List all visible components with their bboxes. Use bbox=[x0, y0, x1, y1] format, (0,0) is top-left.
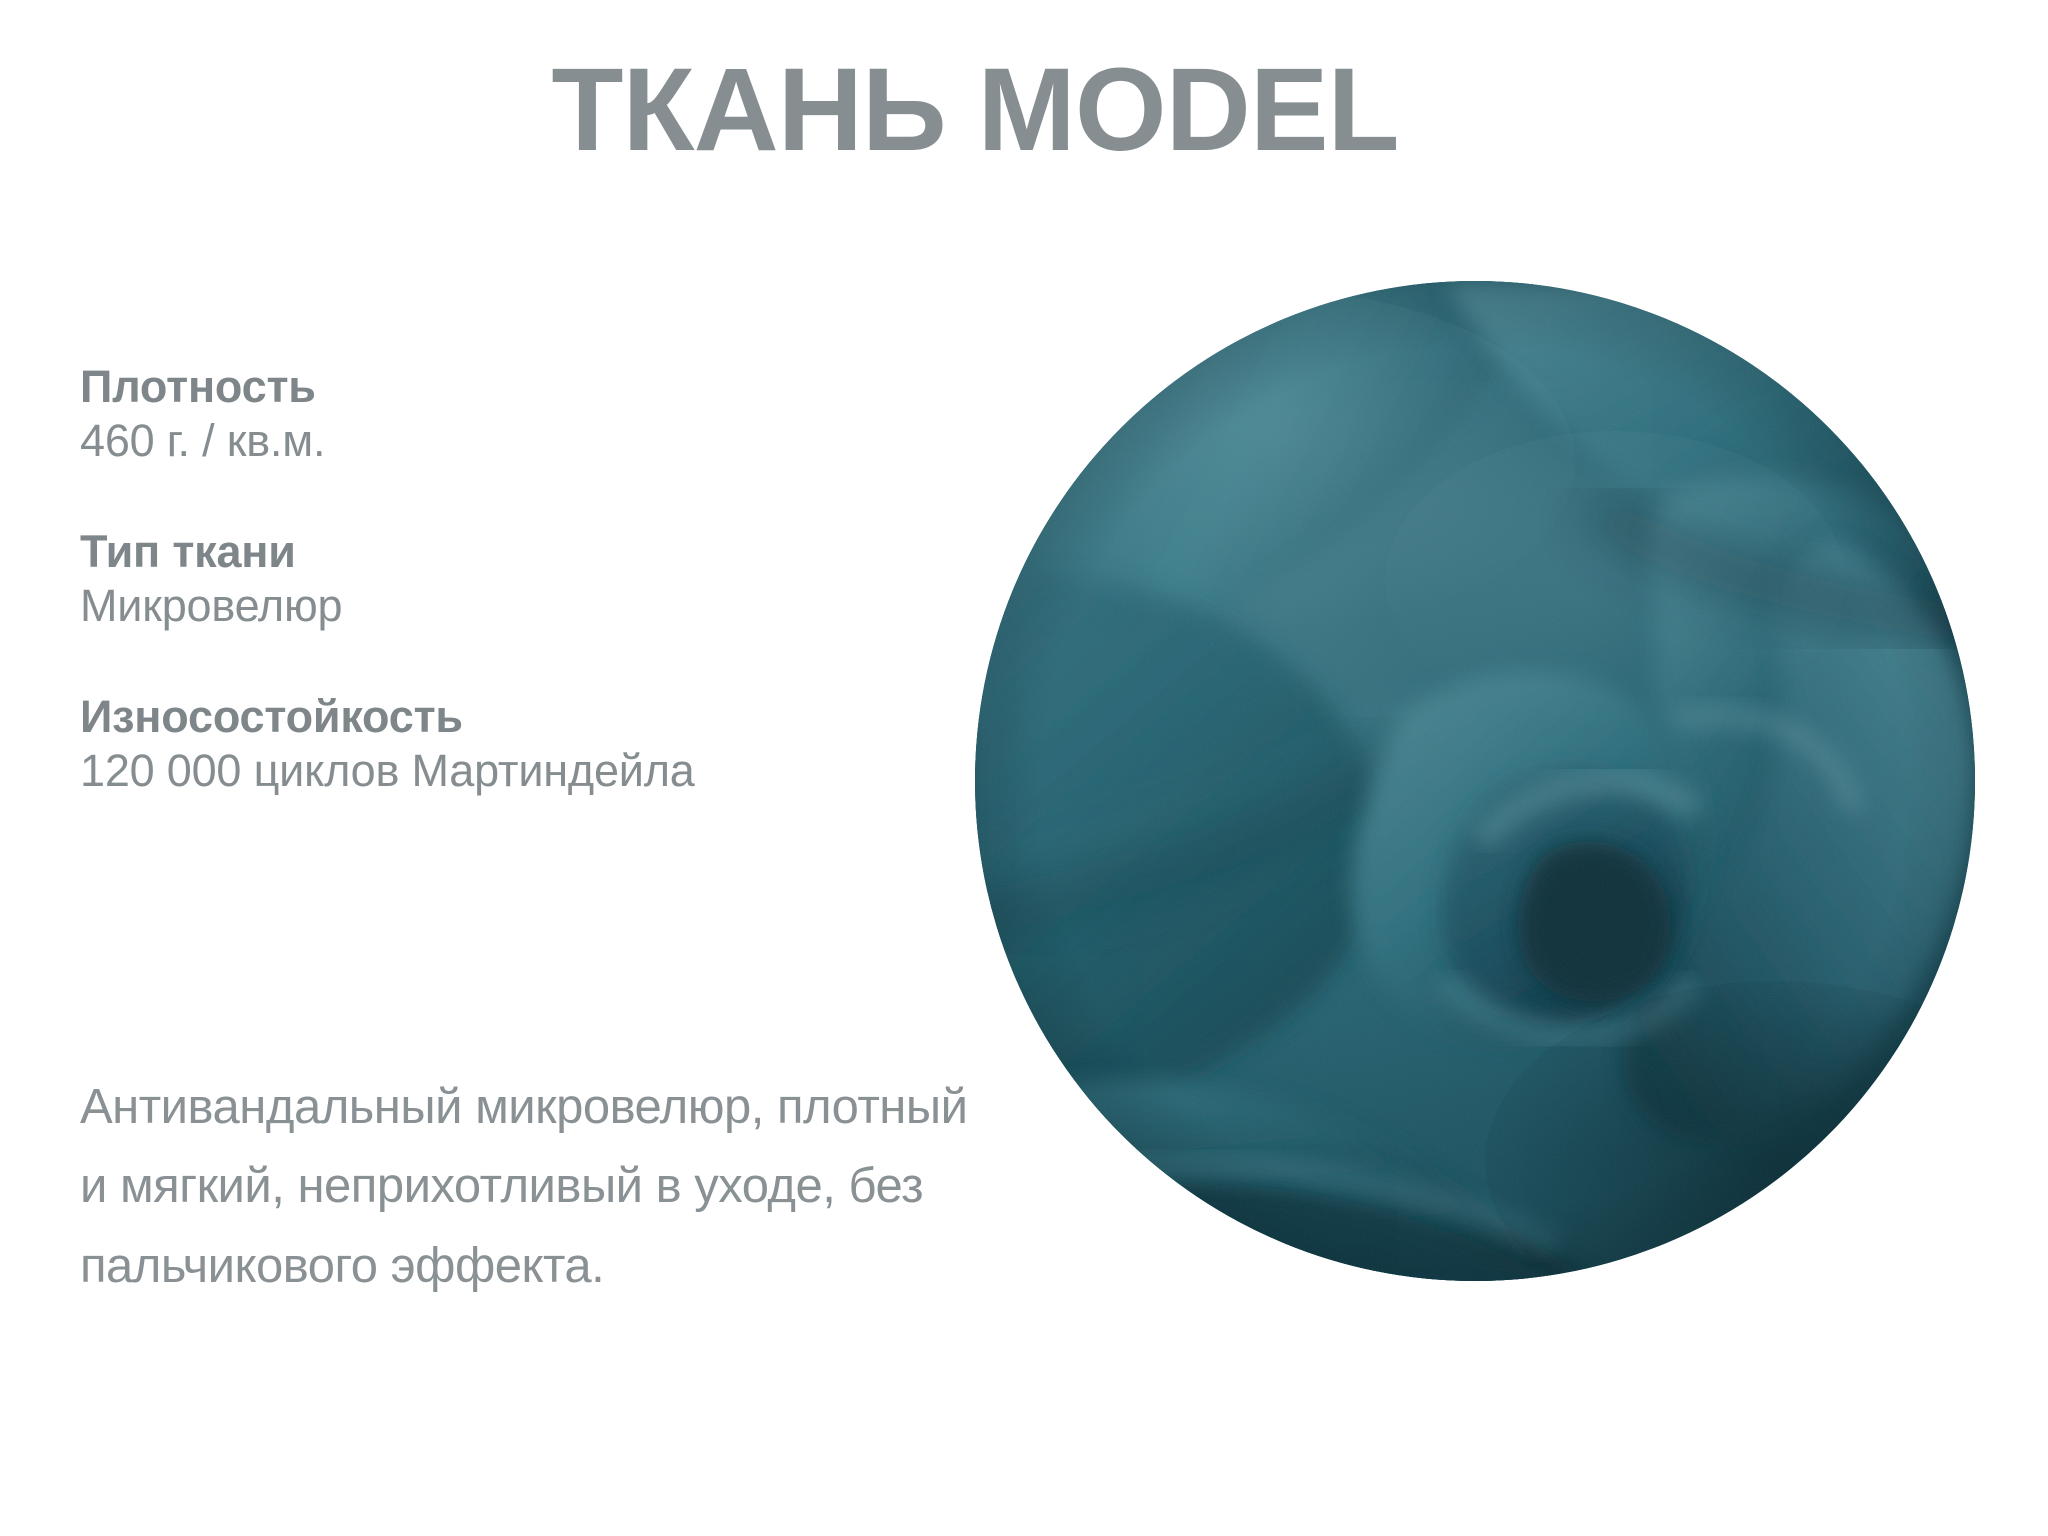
spec-item-durability: Износостойкость 120 000 циклов Мартиндей… bbox=[80, 690, 840, 799]
spec-label-density: Плотность bbox=[80, 360, 840, 413]
slide-root: ТКАНЬ MODEL Плотность 460 г. / кв.м. Тип… bbox=[0, 0, 2048, 1536]
spec-item-fabric-type: Тип ткани Микровелюр bbox=[80, 525, 840, 634]
page-title: ТКАНЬ MODEL bbox=[0, 46, 1950, 176]
spec-label-durability: Износостойкость bbox=[80, 690, 840, 743]
spec-value-durability: 120 000 циклов Мартиндейла bbox=[80, 743, 700, 799]
fabric-photo bbox=[975, 281, 1975, 1281]
description-text: Антивандальный микровелюр, плотный и мяг… bbox=[80, 1068, 1000, 1306]
spec-list: Плотность 460 г. / кв.м. Тип ткани Микро… bbox=[80, 360, 840, 799]
spec-label-fabric-type: Тип ткани bbox=[80, 525, 840, 578]
spec-value-density: 460 г. / кв.м. bbox=[80, 413, 840, 469]
spec-value-fabric-type: Микровелюр bbox=[80, 578, 840, 634]
fabric-photo-circle bbox=[975, 281, 1975, 1281]
spec-item-density: Плотность 460 г. / кв.м. bbox=[80, 360, 840, 469]
fabric-swatch-illustration bbox=[975, 281, 1975, 1281]
